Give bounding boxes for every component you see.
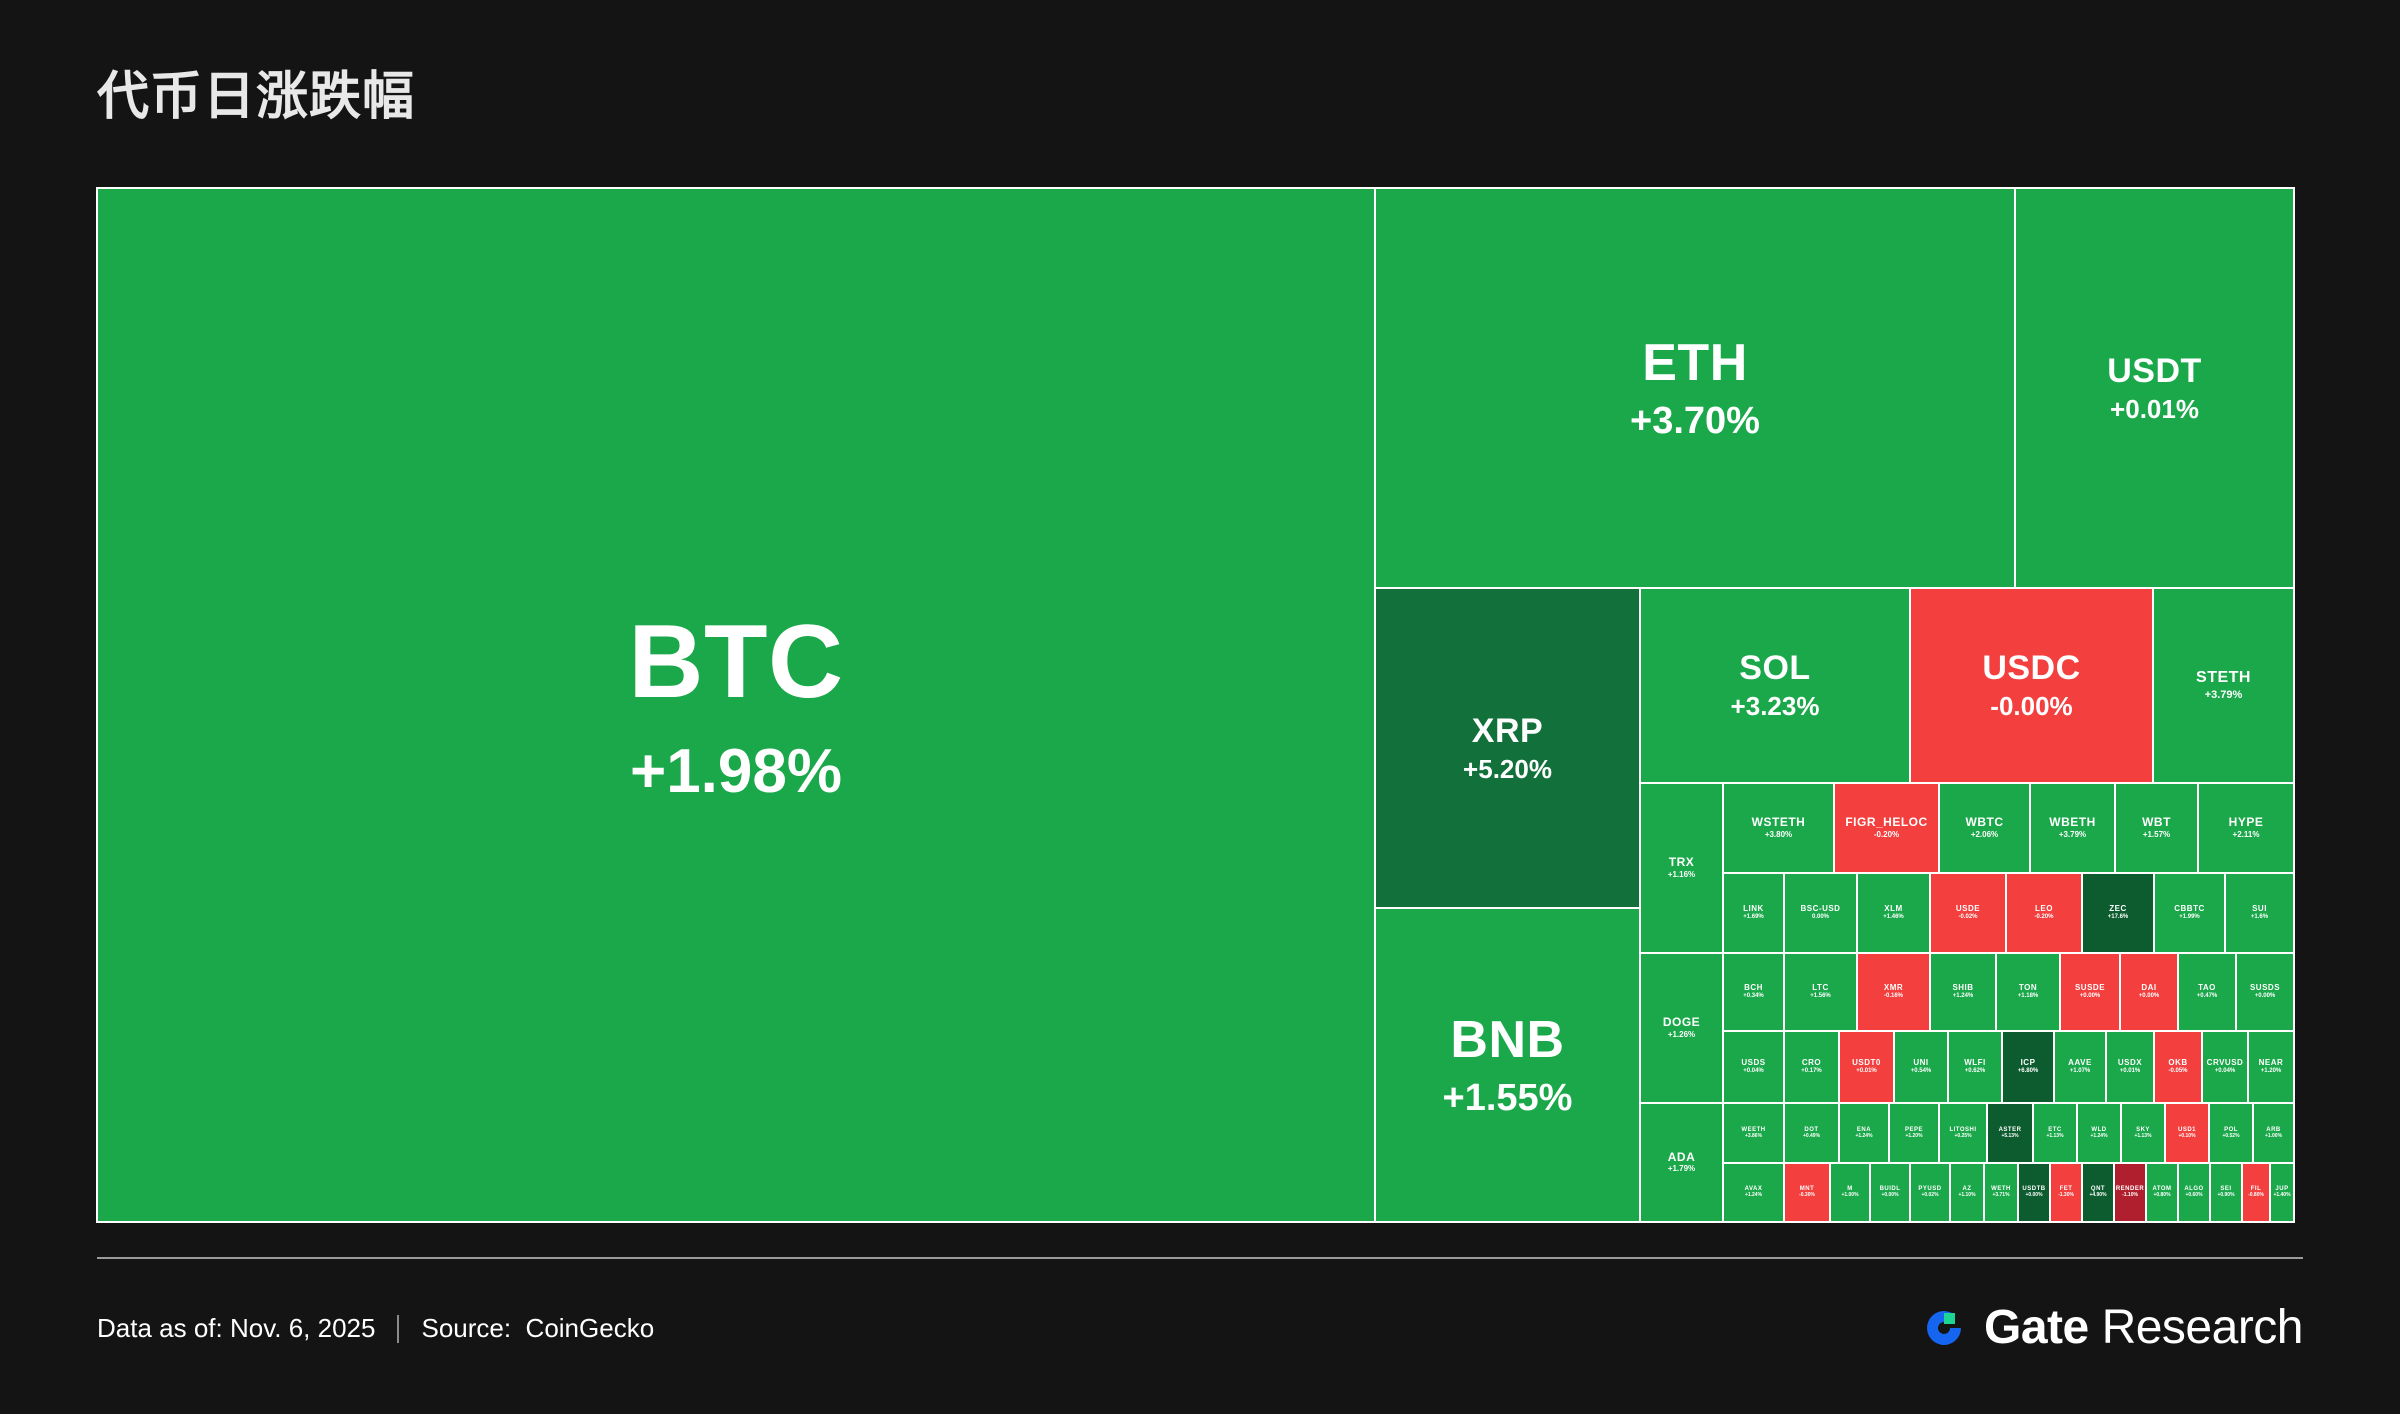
tile-change: +3.80%	[1765, 831, 1792, 840]
treemap-tile[interactable]: LTC+1.56%	[1784, 953, 1857, 1031]
tile-change: +1.20%	[1905, 1134, 1922, 1140]
tile-change: +3.23%	[1731, 692, 1820, 721]
treemap-tile[interactable]: NEAR+1.20%	[2248, 1031, 2294, 1103]
tile-symbol: USDT	[2107, 352, 2202, 390]
tile-change: +3.79%	[2205, 689, 2243, 701]
tile-change: +0.80%	[2153, 1193, 2170, 1199]
tile-change: +0.00%	[2139, 993, 2160, 1000]
tile-change: +1.40%	[2273, 1193, 2290, 1199]
tile-change: +0.49%	[1803, 1134, 1820, 1140]
treemap-tile[interactable]: LITOSHI+0.25%	[1939, 1103, 1987, 1163]
tile-change: +0.02%	[1921, 1193, 1938, 1199]
tile-symbol: XLM	[1884, 905, 1902, 914]
tile-change: +0.04%	[2215, 1068, 2236, 1075]
treemap-tile[interactable]: ICP+6.80%	[2002, 1031, 2054, 1103]
tile-change: -0.05%	[2168, 1068, 2187, 1075]
treemap-tile[interactable]: BTC+1.98%	[97, 188, 1375, 1222]
tile-symbol: LTC	[1812, 984, 1828, 993]
tile-symbol: TAO	[2198, 984, 2216, 993]
treemap-tile[interactable]: RENDER-1.10%	[2114, 1163, 2146, 1222]
tile-change: +17.6%	[2108, 914, 2129, 921]
tile-change: +3.70%	[1630, 400, 1760, 443]
treemap-tile[interactable]: LEO-0.20%	[2006, 873, 2082, 953]
tile-change: +1.98%	[630, 737, 842, 806]
treemap-tile[interactable]: USDT0+0.01%	[1839, 1031, 1894, 1103]
treemap-tile[interactable]: DAI+0.00%	[2120, 953, 2178, 1031]
tile-change: -1.30%	[2058, 1193, 2074, 1199]
tile-change: +1.69%	[1743, 914, 1764, 921]
treemap-tile[interactable]: BCH+0.34%	[1723, 953, 1784, 1031]
tile-symbol: WBT	[2142, 816, 2171, 829]
treemap-tile[interactable]: WBTC+2.06%	[1939, 783, 2030, 873]
treemap-tile[interactable]: POL+0.52%	[2209, 1103, 2253, 1163]
tile-change: +0.01%	[2120, 1068, 2141, 1075]
tile-symbol: WBTC	[1966, 816, 2004, 829]
tile-symbol: STETH	[2196, 669, 2251, 687]
treemap-tile[interactable]: ENA+1.24%	[1839, 1103, 1889, 1163]
treemap-tile[interactable]: OKB-0.05%	[2154, 1031, 2202, 1103]
brand-logo: Gate Research	[1918, 1300, 2303, 1355]
treemap-tile[interactable]: TON+1.18%	[1996, 953, 2060, 1031]
tile-change: +0.00%	[1881, 1193, 1898, 1199]
tile-symbol: ADA	[1668, 1151, 1696, 1164]
tile-symbol: XMR	[1884, 984, 1903, 993]
tile-change: +1.24%	[1953, 993, 1974, 1000]
source-value: CoinGecko	[526, 1313, 655, 1344]
tile-change: +2.11%	[2233, 831, 2260, 840]
tile-change: +0.90%	[2217, 1193, 2234, 1199]
tile-change: 0.00%	[1812, 914, 1829, 921]
tile-symbol: TRX	[1669, 856, 1695, 869]
treemap-tile[interactable]: BUIDL+0.00%	[1870, 1163, 1910, 1222]
treemap-tile[interactable]: SUSDE+0.00%	[2060, 953, 2120, 1031]
tile-change: +0.17%	[1801, 1068, 1822, 1075]
treemap-tile[interactable]: SOL+3.23%	[1640, 588, 1910, 783]
tile-symbol: SUSDS	[2250, 984, 2280, 993]
treemap-tile[interactable]: SKY+1.13%	[2121, 1103, 2165, 1163]
tile-change: +1.26%	[1668, 1031, 1695, 1040]
gate-logo-icon	[1918, 1302, 1970, 1354]
tile-symbol: ETH	[1642, 334, 1748, 392]
page-title: 代币日涨跌幅	[97, 54, 415, 129]
tile-symbol: BNB	[1450, 1011, 1564, 1069]
tile-symbol: BSC-USD	[1801, 905, 1841, 914]
tile-symbol: FIGR_HELOC	[1845, 816, 1927, 829]
treemap-tile[interactable]: PEPE+1.20%	[1889, 1103, 1939, 1163]
tile-symbol: ICP	[2021, 1059, 2036, 1068]
tile-change: +1.00%	[1841, 1193, 1858, 1199]
treemap-tile[interactable]: M+1.00%	[1830, 1163, 1870, 1222]
tile-symbol: AAVE	[2068, 1059, 2092, 1068]
tile-symbol: USDC	[1982, 649, 2080, 687]
tile-change: +0.54%	[1911, 1068, 1932, 1075]
tile-change: -0.20%	[1874, 831, 1899, 840]
tile-change: +1.6%	[2251, 914, 2268, 921]
tile-symbol: UNI	[1913, 1059, 1928, 1068]
tile-change: -0.02%	[1958, 914, 1977, 921]
tile-change: +0.00%	[2025, 1193, 2042, 1199]
tile-symbol: LEO	[2035, 905, 2053, 914]
tile-change: +1.16%	[1668, 871, 1695, 880]
treemap-tile[interactable]: USDE-0.02%	[1930, 873, 2006, 953]
treemap-tile[interactable]: USDT+0.01%	[2015, 188, 2294, 588]
treemap-tile[interactable]: FIL-0.80%	[2242, 1163, 2270, 1222]
treemap-tile[interactable]: BNB+1.55%	[1375, 908, 1640, 1222]
treemap-tile[interactable]: SEI+0.90%	[2210, 1163, 2242, 1222]
treemap-tile[interactable]: DOT+0.49%	[1784, 1103, 1839, 1163]
tile-change: +0.47%	[2197, 993, 2218, 1000]
tile-symbol: DAI	[2141, 984, 2156, 993]
tile-change: +0.01%	[1856, 1068, 1877, 1075]
tile-symbol: WSTETH	[1752, 816, 1806, 829]
tile-symbol: ZEC	[2109, 905, 2127, 914]
tile-change: +2.06%	[1971, 831, 1998, 840]
tile-change: +0.52%	[2222, 1134, 2239, 1140]
treemap-tile[interactable]: CBBTC+1.99%	[2154, 873, 2225, 953]
treemap-tile[interactable]: WLD+1.24%	[2077, 1103, 2121, 1163]
tile-change: +0.04%	[1743, 1068, 1764, 1075]
treemap-tile[interactable]: MNT-0.30%	[1784, 1163, 1830, 1222]
footer-separator	[397, 1315, 399, 1343]
tile-symbol: LINK	[1743, 905, 1764, 914]
treemap-tile[interactable]: USDX+0.01%	[2106, 1031, 2154, 1103]
treemap-tile[interactable]: WLFI+0.62%	[1948, 1031, 2002, 1103]
tile-symbol: HYPE	[2229, 816, 2264, 829]
treemap-chart: BTC+1.98%ETH+3.70%USDT+0.01%XRP+5.20%SOL…	[97, 188, 2294, 1222]
treemap-tile[interactable]: FIGR_HELOC-0.20%	[1834, 783, 1939, 873]
tile-symbol: USDS	[1741, 1059, 1765, 1068]
treemap-tile[interactable]: HYPE+2.11%	[2198, 783, 2294, 873]
tile-symbol: OKB	[2168, 1059, 2187, 1068]
treemap-tile[interactable]: XRP+5.20%	[1375, 588, 1640, 908]
treemap-tile[interactable]: ZEC+17.6%	[2082, 873, 2154, 953]
tile-symbol: WLFI	[1964, 1059, 1986, 1068]
treemap-tile[interactable]: CRVUSD+0.04%	[2202, 1031, 2248, 1103]
tile-change: +3.71%	[1992, 1193, 2009, 1199]
tile-change: +5.20%	[1463, 755, 1552, 784]
tile-change: +1.55%	[1443, 1077, 1573, 1120]
footer-divider	[97, 1257, 2303, 1259]
treemap-tile[interactable]: JUP+1.40%	[2270, 1163, 2294, 1222]
tile-change: +1.00%	[2265, 1134, 2282, 1140]
treemap-tile[interactable]: SHIB+1.24%	[1930, 953, 1996, 1031]
tile-change: +1.13%	[2046, 1134, 2063, 1140]
treemap-tile[interactable]: STETH+3.79%	[2153, 588, 2294, 783]
tile-symbol: TON	[2019, 984, 2037, 993]
tile-symbol: SHIB	[1952, 984, 1973, 993]
tile-change: +1.24%	[1745, 1193, 1762, 1199]
treemap-tile[interactable]: WEETH+3.86%	[1723, 1103, 1784, 1163]
treemap-tile[interactable]: WSTETH+3.80%	[1723, 783, 1834, 873]
tile-change: +1.10%	[1958, 1193, 1975, 1199]
tile-change: +1.18%	[2018, 993, 2039, 1000]
tile-change: +0.10%	[2178, 1134, 2195, 1140]
tile-change: +0.25%	[1954, 1134, 1971, 1140]
treemap-tile[interactable]: WETH+3.71%	[1984, 1163, 2018, 1222]
treemap-tile[interactable]: USDC-0.00%	[1910, 588, 2153, 783]
tile-symbol: USDT0	[1852, 1059, 1881, 1068]
tile-symbol: CRO	[1802, 1059, 1821, 1068]
treemap-tile[interactable]: USDS+0.04%	[1723, 1031, 1784, 1103]
tile-change: +1.24%	[2090, 1134, 2107, 1140]
source-label: Source:	[421, 1313, 511, 1344]
tile-change: -0.16%	[1884, 993, 1903, 1000]
tile-change: +0.00%	[2080, 993, 2101, 1000]
tile-symbol: DOGE	[1663, 1016, 1700, 1029]
treemap-tile[interactable]: ATOM+0.80%	[2146, 1163, 2178, 1222]
treemap-tile[interactable]: SUI+1.6%	[2225, 873, 2294, 953]
tile-change: +1.57%	[2143, 831, 2170, 840]
tile-change: +6.80%	[2018, 1068, 2039, 1075]
treemap-tile[interactable]: XLM+1.46%	[1857, 873, 1930, 953]
tile-symbol: SUI	[2252, 905, 2267, 914]
treemap-tile[interactable]: ASTER+5.13%	[1987, 1103, 2033, 1163]
treemap-tile[interactable]: WBT+1.57%	[2115, 783, 2198, 873]
tile-symbol: CBBTC	[2174, 905, 2205, 914]
tile-symbol: XRP	[1472, 712, 1543, 750]
brand-secondary: Research	[2089, 1301, 2303, 1354]
tile-change: -1.10%	[2122, 1193, 2138, 1199]
tile-symbol: USDX	[2118, 1059, 2142, 1068]
tile-change: +5.13%	[2001, 1134, 2018, 1140]
data-as-of-value: Nov. 6, 2025	[230, 1313, 376, 1344]
tile-change: -0.30%	[1799, 1193, 1815, 1199]
tile-change: +1.20%	[2261, 1068, 2282, 1075]
tile-symbol: NEAR	[2259, 1059, 2284, 1068]
tile-change: +3.79%	[2059, 831, 2086, 840]
treemap-tile[interactable]: TRX+1.16%	[1640, 783, 1723, 953]
treemap-tile[interactable]: USD1+0.10%	[2165, 1103, 2209, 1163]
treemap-tile[interactable]: TAO+0.47%	[2178, 953, 2236, 1031]
tile-change: +0.60%	[2185, 1193, 2202, 1199]
tile-symbol: SUSDE	[2075, 984, 2105, 993]
footer-meta: Data as of: Nov. 6, 2025 Source: CoinGec…	[97, 1313, 654, 1344]
brand-wordmark: Gate Research	[1984, 1300, 2303, 1355]
tile-change: +1.79%	[1668, 1165, 1695, 1174]
treemap-tile[interactable]: ADA+1.79%	[1640, 1103, 1723, 1222]
treemap-tile[interactable]: UNI+0.54%	[1894, 1031, 1948, 1103]
treemap-tile[interactable]: WBETH+3.79%	[2030, 783, 2115, 873]
treemap-tile[interactable]: CRO+0.17%	[1784, 1031, 1839, 1103]
treemap-tile[interactable]: XMR-0.16%	[1857, 953, 1930, 1031]
tile-symbol: BTC	[628, 604, 843, 720]
tile-change: +4.90%	[2089, 1193, 2106, 1199]
tile-change: +1.24%	[1855, 1134, 1872, 1140]
tile-change: -0.00%	[1990, 692, 2072, 721]
tile-symbol: WBETH	[2049, 816, 2096, 829]
brand-primary: Gate	[1984, 1301, 2089, 1354]
treemap-tile[interactable]: ARB+1.00%	[2253, 1103, 2294, 1163]
treemap-tile[interactable]: PYUSD+0.02%	[1910, 1163, 1950, 1222]
tile-change: +1.46%	[1883, 914, 1904, 921]
tile-change: +0.00%	[2255, 993, 2276, 1000]
tile-change: +1.07%	[2070, 1068, 2091, 1075]
treemap-tile[interactable]: ALGO+0.60%	[2178, 1163, 2210, 1222]
tile-change: -0.20%	[2034, 914, 2053, 921]
tile-change: +1.56%	[1810, 993, 1831, 1000]
tile-change: -0.80%	[2248, 1193, 2264, 1199]
treemap-tile[interactable]: AZ+1.10%	[1950, 1163, 1984, 1222]
treemap-tile[interactable]: AAVE+1.07%	[2054, 1031, 2106, 1103]
treemap-tile[interactable]: QNT+4.90%	[2082, 1163, 2114, 1222]
tile-change: +0.34%	[1743, 993, 1764, 1000]
tile-change: +1.99%	[2179, 914, 2200, 921]
treemap-tile[interactable]: ETH+3.70%	[1375, 188, 2015, 588]
tile-change: +3.86%	[1745, 1134, 1762, 1140]
treemap-tile[interactable]: LINK+1.69%	[1723, 873, 1784, 953]
tile-symbol: SOL	[1739, 649, 1810, 687]
tile-symbol: USDE	[1956, 905, 1980, 914]
treemap-tile[interactable]: ETC+1.13%	[2033, 1103, 2077, 1163]
treemap-tile[interactable]: USDTB+0.00%	[2018, 1163, 2050, 1222]
tile-change: +1.13%	[2134, 1134, 2151, 1140]
data-as-of-label: Data as of:	[97, 1313, 223, 1344]
treemap-tile[interactable]: DOGE+1.26%	[1640, 953, 1723, 1103]
tile-symbol: BCH	[1744, 984, 1763, 993]
treemap-tile[interactable]: BSC-USD0.00%	[1784, 873, 1857, 953]
treemap-tile[interactable]: FET-1.30%	[2050, 1163, 2082, 1222]
treemap-tile[interactable]: AVAX+1.24%	[1723, 1163, 1784, 1222]
tile-symbol: CRVUSD	[2207, 1059, 2244, 1068]
tile-change: +0.01%	[2110, 395, 2199, 424]
treemap-tile[interactable]: SUSDS+0.00%	[2236, 953, 2294, 1031]
tile-change: +0.62%	[1965, 1068, 1986, 1075]
